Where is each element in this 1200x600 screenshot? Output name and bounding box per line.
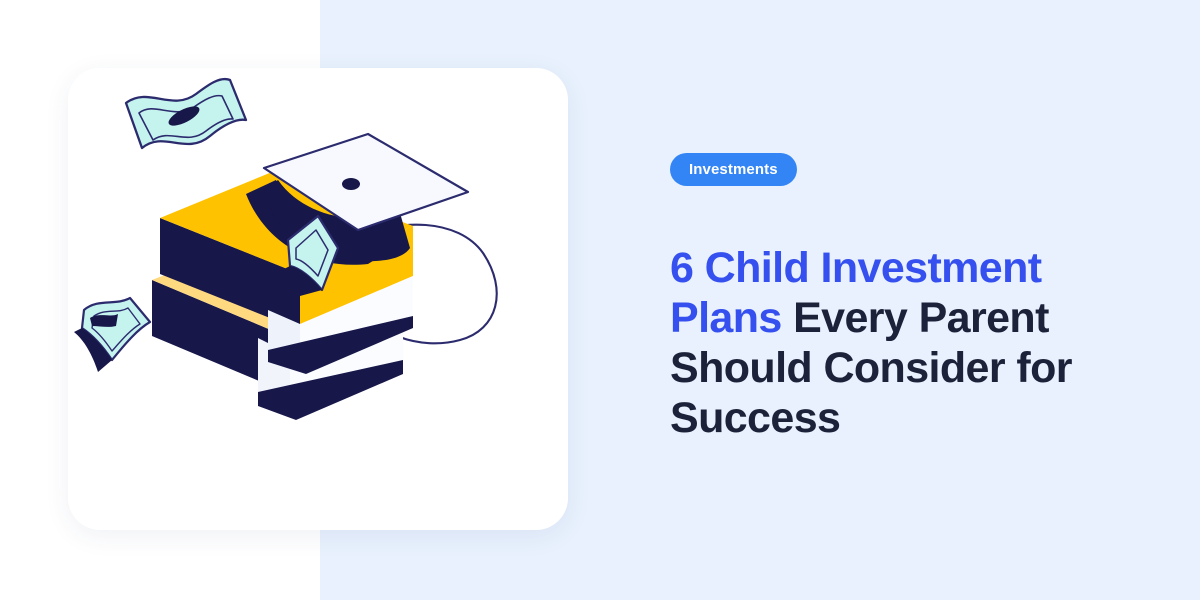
- promo-poster: Investments 6 Child Investment Plans Eve…: [0, 0, 1200, 600]
- page-title: 6 Child Investment Plans Every Parent Sh…: [670, 243, 1100, 443]
- banknote-top-left: [126, 79, 246, 148]
- banknote-bottom-left: [74, 298, 150, 372]
- graduation-cap-books-money-illustration: [68, 68, 568, 530]
- category-badge[interactable]: Investments: [670, 153, 797, 186]
- text-content: Investments 6 Child Investment Plans Eve…: [670, 0, 1110, 600]
- illustration-card: [68, 68, 568, 530]
